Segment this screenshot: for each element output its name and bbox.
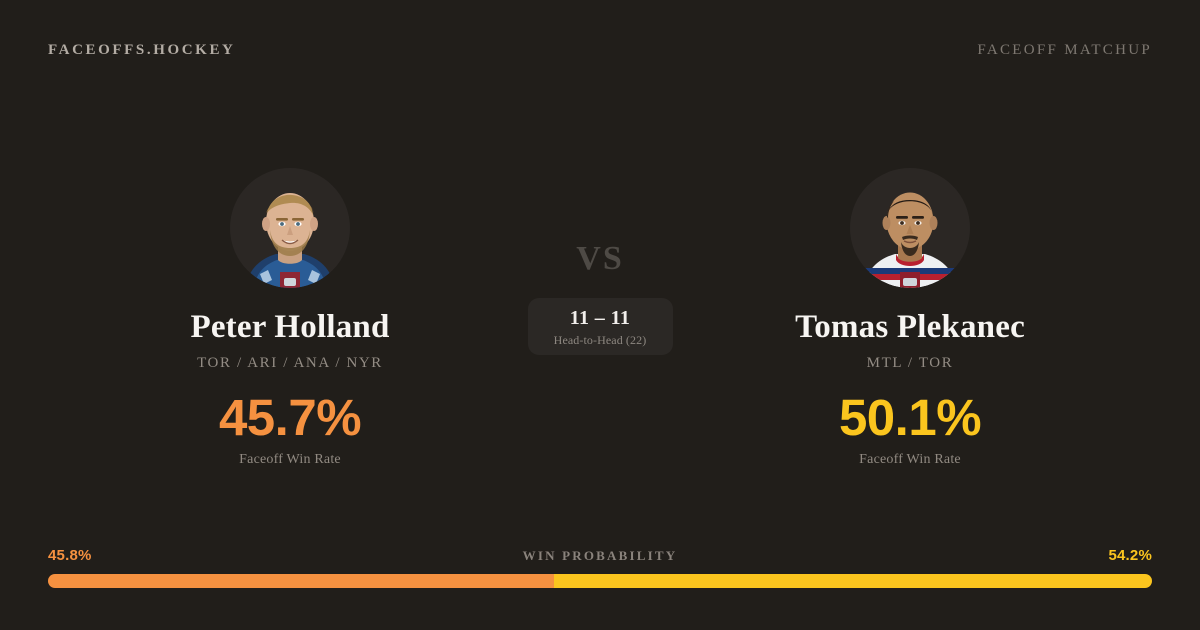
matchup-section: Peter Holland TOR / ARI / ANA / NYR 45.7…	[0, 100, 1200, 500]
win-probability-left-value: 45.8%	[48, 547, 92, 564]
win-probability-labels: 45.8% WIN PROBABILITY 54.2%	[48, 547, 1152, 564]
win-probability-bar-left	[48, 574, 554, 588]
faceoff-win-rate-right: 50.1%	[839, 392, 981, 443]
win-probability-bar[interactable]	[48, 574, 1152, 588]
avatar-left	[230, 168, 350, 288]
player-name-right: Tomas Plekanec	[795, 310, 1025, 346]
head-to-head-label: Head-to-Head (22)	[554, 334, 647, 346]
avatar-right	[850, 168, 970, 288]
faceoff-win-rate-label-left: Faceoff Win Rate	[239, 452, 341, 468]
player-teams-right: MTL / TOR	[867, 355, 954, 372]
versus-block: VS 11 – 11 Head-to-Head (22)	[500, 100, 700, 355]
faceoff-matchup-card: FACEOFFS.HOCKEY FACEOFF MATCHUP	[0, 0, 1200, 630]
win-probability-section: 45.8% WIN PROBABILITY 54.2%	[48, 547, 1152, 588]
win-probability-bar-right	[554, 574, 1152, 588]
vs-label: VS	[576, 242, 623, 276]
player-name-left: Peter Holland	[190, 310, 389, 346]
header: FACEOFFS.HOCKEY FACEOFF MATCHUP	[0, 0, 1200, 100]
win-probability-right-value: 54.2%	[1108, 547, 1152, 564]
head-to-head-score: 11 – 11	[570, 308, 631, 328]
player-card-right[interactable]: Tomas Plekanec MTL / TOR 50.1% Faceoff W…	[700, 100, 1120, 468]
player-teams-left: TOR / ARI / ANA / NYR	[197, 355, 383, 372]
player-card-left[interactable]: Peter Holland TOR / ARI / ANA / NYR 45.7…	[80, 100, 500, 468]
faceoff-win-rate-left: 45.7%	[219, 392, 361, 443]
brand-logo: FACEOFFS.HOCKEY	[48, 42, 235, 59]
head-to-head-badge[interactable]: 11 – 11 Head-to-Head (22)	[528, 298, 673, 355]
page-kicker: FACEOFF MATCHUP	[977, 42, 1152, 59]
win-probability-title: WIN PROBABILITY	[523, 548, 678, 564]
faceoff-win-rate-label-right: Faceoff Win Rate	[859, 452, 961, 468]
